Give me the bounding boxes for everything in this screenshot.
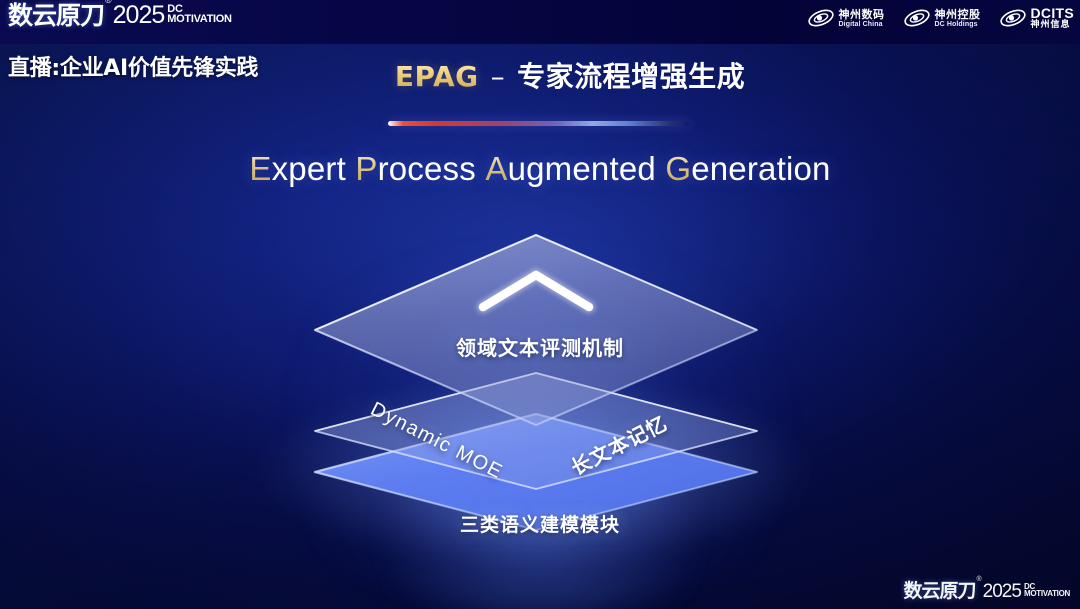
swirl-logo-icon	[903, 7, 931, 29]
layer-bottom-label[interactable]: 三类语义建模模块	[0, 510, 1080, 537]
background-glow-upper	[230, 250, 850, 609]
partner-name-cn: 神州数码	[839, 9, 885, 20]
subtitle-space-0	[346, 150, 355, 187]
page-title-dash: –	[491, 60, 506, 93]
subtitle-space-2	[656, 150, 665, 187]
partner-logo-group: 神州数码 Digital China 神州控股 DC Holdings	[807, 6, 1075, 30]
partner-logo-dcits: DCITS 神州信息	[999, 6, 1075, 30]
page-title-inner: EPAG–专家流程增强生成	[395, 55, 745, 95]
partner-logo-dc-holdings: 神州控股 DC Holdings	[903, 7, 981, 29]
swirl-logo-icon	[807, 7, 835, 29]
layer-middle-label-left[interactable]: Dynamic MOE	[367, 398, 507, 485]
subtitle-inner: Expert Process Augmented Generation	[249, 150, 830, 188]
brand-year: 2025	[113, 3, 165, 28]
partner-name-en: DCITS	[1031, 6, 1075, 20]
subtitle-space-1	[476, 150, 485, 187]
layer-middle-surface	[315, 373, 757, 489]
partner-name-cn: 神州控股	[935, 9, 981, 20]
title-divider-bar	[388, 121, 690, 126]
brand-dc-line2: MOTIVATION	[167, 14, 231, 24]
brand-registered-mark: ®	[105, 0, 112, 5]
watermark-year: 2025	[983, 582, 1021, 601]
chevron-glow	[483, 275, 589, 307]
subtitle-word-3-cap: G	[665, 150, 691, 187]
brand-logo-top-left: 数云原刀 ® 2025 DC MOTIVATION	[8, 3, 232, 28]
layer-top-surface	[315, 235, 757, 425]
partner-name-en: Digital China	[839, 21, 885, 28]
slide-canvas: 数云原刀 ® 2025 DC MOTIVATION 直播:企业AI价值先锋实践 …	[0, 0, 1080, 609]
diagram-layer-top[interactable]	[315, 235, 757, 425]
brand-name-cn: 数云原刀	[8, 3, 104, 28]
watermark-dc-motivation: DC MOTIVATION	[1024, 583, 1070, 598]
diagram-layer-middle[interactable]	[315, 373, 757, 489]
subtitle-word-0-rest: xpert	[272, 150, 346, 187]
subtitle-word-3-rest: eneration	[691, 150, 830, 187]
chevron-stroke	[483, 275, 589, 307]
subtitle-word-0-cap: E	[249, 150, 271, 187]
brand-logo-bottom-right: 数云原刀 ® 2025 DC MOTIVATION	[903, 582, 1070, 601]
layer-top-label[interactable]: 领域文本评测机制	[0, 332, 1080, 361]
brand-dc-motivation: DC MOTIVATION	[167, 4, 231, 24]
subtitle-word-2-rest: ugmented	[508, 150, 656, 187]
page-title-acronym: EPAG	[395, 60, 479, 93]
watermark-dc-line2: MOTIVATION	[1024, 590, 1070, 597]
subtitle-word-1-cap: P	[355, 150, 377, 187]
partner-label: 神州控股 DC Holdings	[935, 9, 981, 28]
watermark-registered-mark: ®	[977, 576, 982, 583]
partner-name-en: DC Holdings	[935, 21, 981, 28]
chevron-up-icon[interactable]	[483, 275, 589, 307]
subtitle-expanded-acronym: Expert Process Augmented Generation	[0, 150, 1080, 188]
partner-label: DCITS 神州信息	[1031, 6, 1075, 30]
page-title-chinese: 专家流程增强生成	[517, 60, 745, 93]
layer-middle-label-right[interactable]: 长文本记忆	[565, 407, 672, 481]
partner-label: 神州数码 Digital China	[839, 9, 885, 28]
subtitle-word-1-rest: rocess	[378, 150, 476, 187]
swirl-logo-icon	[999, 7, 1027, 29]
subtitle-word-2-cap: A	[485, 150, 507, 187]
partner-name-cn: 神州信息	[1031, 21, 1075, 30]
layer-top-upper-edge	[315, 235, 757, 330]
watermark-name-cn: 数云原刀	[903, 582, 975, 601]
partner-logo-digital-china: 神州数码 Digital China	[807, 7, 885, 29]
live-stream-title: 直播:企业AI价值先锋实践	[8, 50, 258, 82]
